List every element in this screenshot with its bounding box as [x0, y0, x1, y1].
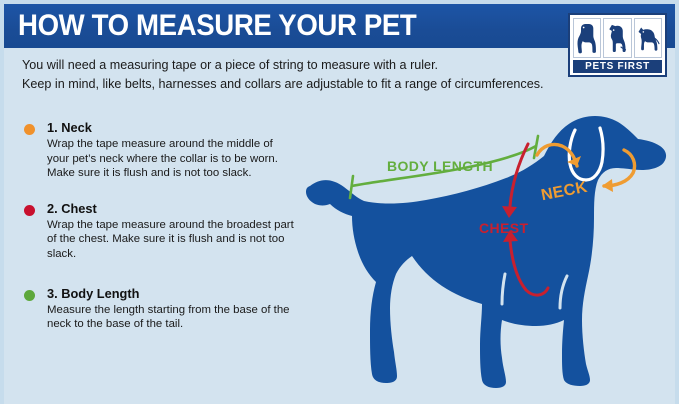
step-body-neck: Wrap the tape measure around the middle … [47, 137, 296, 181]
logo-icon-row [573, 18, 662, 58]
dog-begging-icon [603, 18, 631, 58]
step-title-body-length: 3. Body Length [47, 286, 296, 302]
step-title-neck: 1. Neck [47, 120, 296, 136]
label-body-length: BODY LENGTH [387, 158, 493, 174]
dog-measurement-illustration: BODY LENGTH NECK CHEST [294, 108, 679, 404]
step-dot-body-length [24, 290, 35, 301]
step-item-body-length: 3. Body Length Measure the length starti… [24, 286, 296, 332]
dog-sitting-icon [573, 18, 601, 58]
dog-silhouette [306, 116, 666, 388]
step-dot-chest [24, 205, 35, 216]
dog-standing-icon [634, 18, 662, 58]
label-chest: CHEST [479, 220, 528, 236]
intro-line-1: You will need a measuring tape or a piec… [22, 56, 634, 75]
intro-line-2: Keep in mind, like belts, harnesses and … [22, 75, 634, 94]
measurement-steps-list: 1. Neck Wrap the tape measure around the… [24, 120, 296, 348]
how-to-measure-pet-infographic: HOW TO MEASURE YOUR PET [0, 0, 679, 404]
dog-diagram-svg [294, 108, 679, 404]
step-dot-neck [24, 124, 35, 135]
step-item-chest: 2. Chest Wrap the tape measure around th… [24, 201, 296, 262]
step-body-chest: Wrap the tape measure around the broades… [47, 218, 296, 262]
step-item-neck: 1. Neck Wrap the tape measure around the… [24, 120, 296, 181]
step-title-chest: 2. Chest [47, 201, 296, 217]
page-title: HOW TO MEASURE YOUR PET [18, 9, 416, 43]
step-body-body-length: Measure the length starting from the bas… [47, 303, 296, 332]
intro-text: You will need a measuring tape or a piec… [22, 56, 634, 94]
